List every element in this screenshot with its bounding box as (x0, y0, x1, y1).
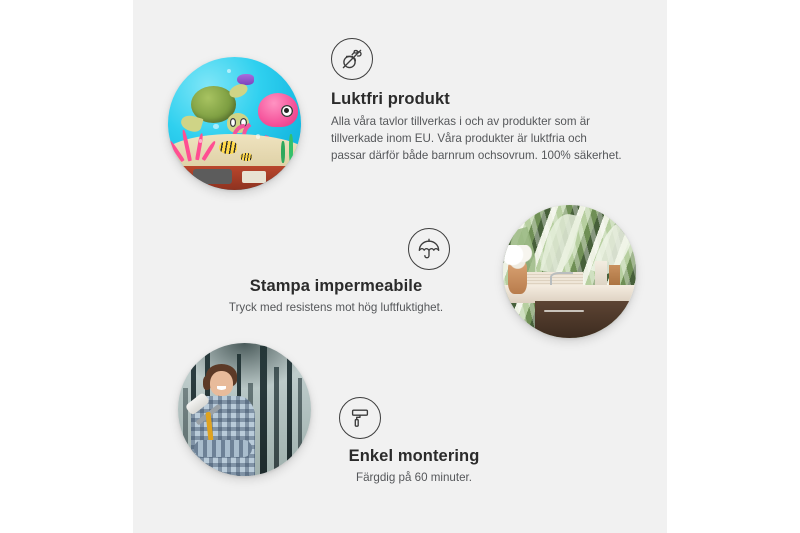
seaweed (281, 141, 285, 164)
feature-waterproof: Stampa impermeabile Tryck med resistens … (200, 228, 472, 317)
bubble-icon (213, 124, 218, 129)
no-fragrance-icon (331, 38, 373, 80)
forest-artwork (178, 343, 311, 476)
icon-wrap (297, 397, 531, 439)
feature-body: Alla våra tavlor tillverkas i och av pro… (331, 114, 623, 165)
bubble-icon (199, 139, 202, 142)
seaweed (289, 134, 293, 163)
feature-body: Tryck med resistens mot hög luftfuktighe… (200, 300, 472, 317)
paint-roller-icon (339, 397, 381, 439)
feature-title: Luktfri produkt (331, 90, 623, 109)
fish-yellow (219, 141, 238, 154)
umbrella-icon (408, 228, 450, 270)
product-image-ocean (168, 57, 301, 190)
bathroom-artwork (503, 205, 636, 338)
feature-title: Stampa impermeabile (200, 277, 472, 296)
octopus-eye (281, 105, 293, 117)
product-image-bathroom (503, 205, 636, 338)
feature-title: Enkel montering (297, 447, 531, 466)
feature-easy-install: Enkel montering Färgdig på 60 minuter. (297, 397, 531, 487)
woman-arms (194, 440, 253, 457)
feature-body: Färgdig på 60 minuter. (297, 470, 531, 487)
forest-canopy (178, 343, 311, 388)
product-image-forest (178, 343, 311, 476)
faucet (550, 272, 573, 285)
bubble-icon (227, 69, 231, 73)
fish-small (240, 153, 252, 161)
ocean-artwork (168, 57, 301, 190)
flowers (503, 245, 535, 269)
woman-smile (217, 386, 226, 390)
coral (179, 129, 214, 161)
bubble-icon (256, 134, 261, 139)
woman-head (210, 371, 233, 396)
feature-odourless: Luktfri produkt Alla våra tavlor tillver… (331, 38, 623, 165)
icon-wrap (200, 228, 472, 270)
poster-canvas: Luktfri produkt Alla våra tavlor tillver… (0, 0, 800, 533)
vanity-cabinet (535, 301, 636, 338)
ocean-floor (168, 166, 301, 190)
